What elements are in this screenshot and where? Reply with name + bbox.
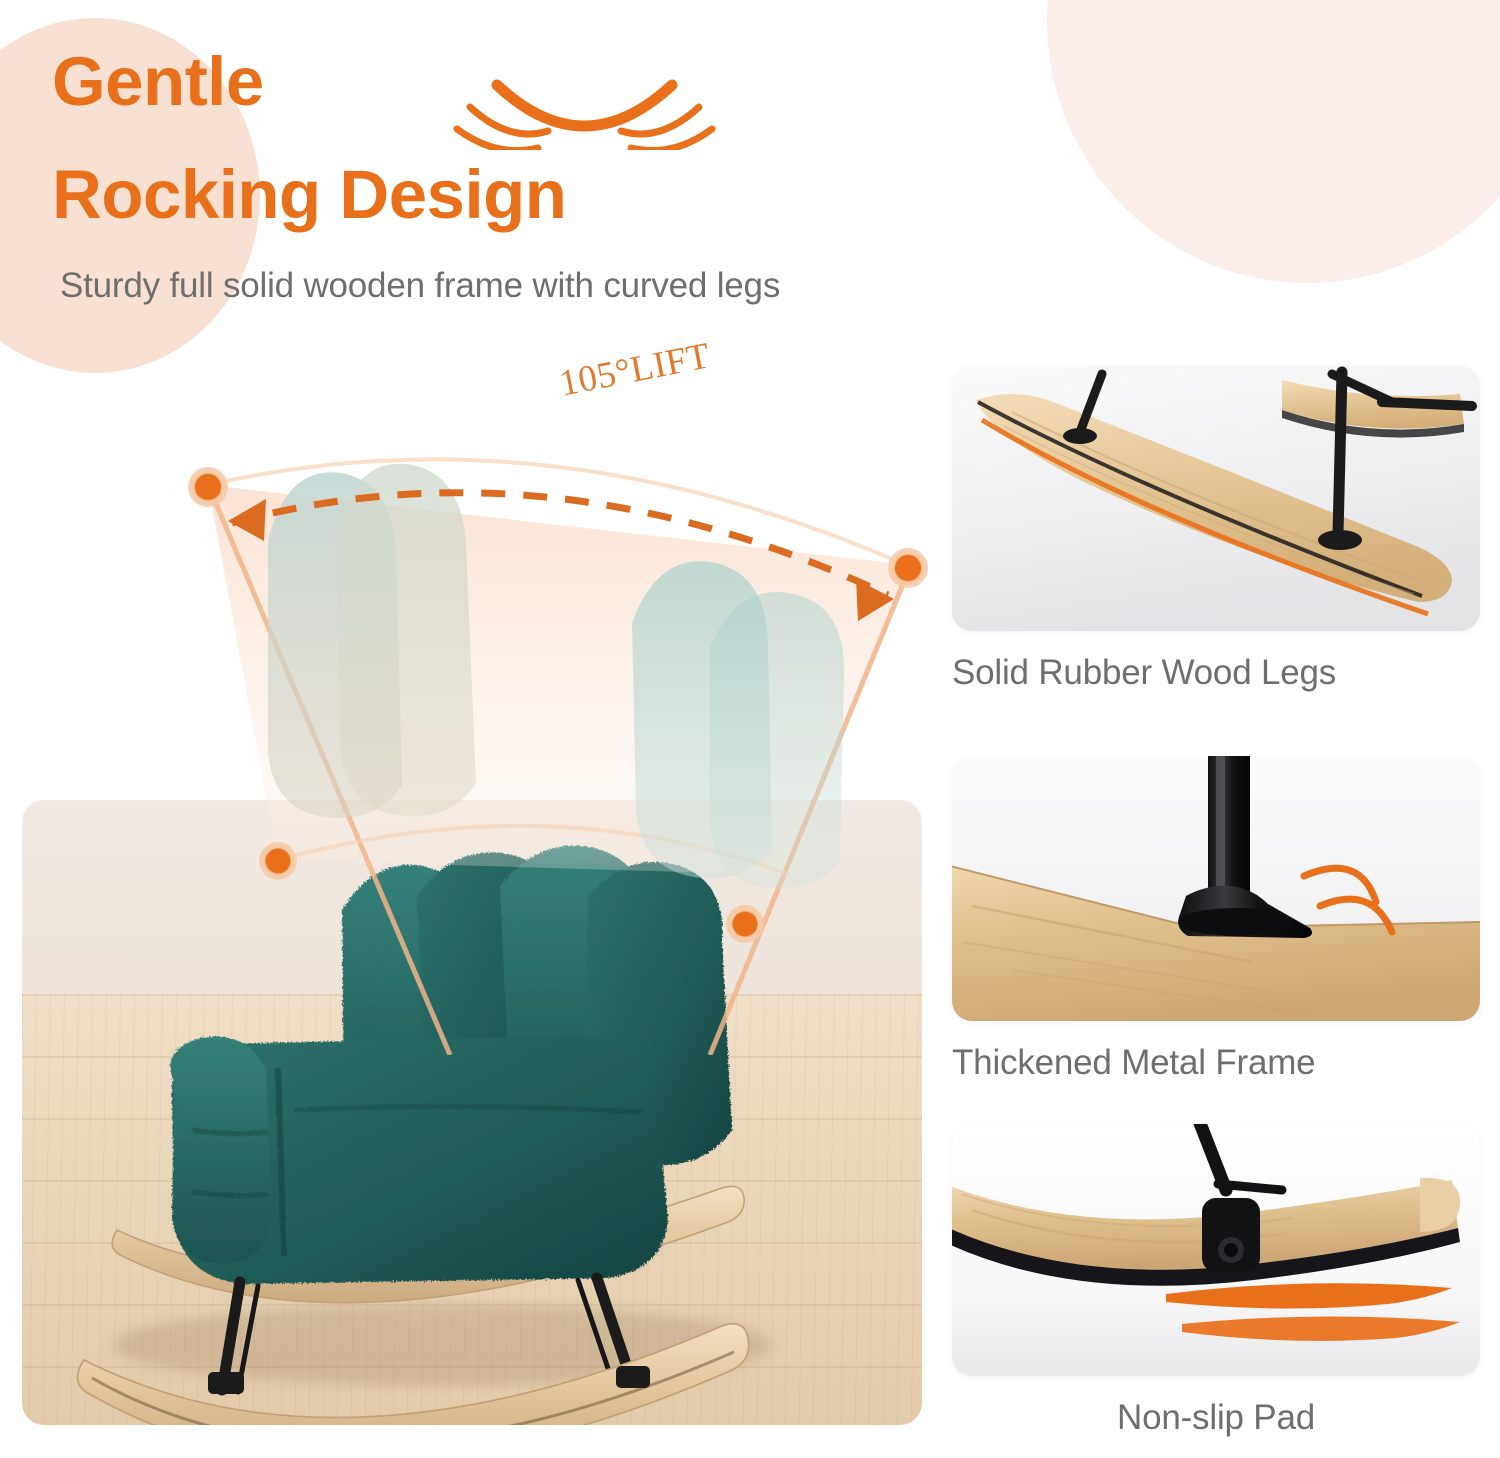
feature-panel-solid-rubber-wood-legs: Solid Rubber Wood Legs (952, 366, 1480, 693)
feature-image-non-slip-pad (952, 1124, 1480, 1376)
page-subtitle: Sturdy full solid wooden frame with curv… (60, 266, 780, 306)
feature-caption: Non-slip Pad (952, 1398, 1480, 1438)
page-title-line-1: Gentle (52, 47, 264, 116)
feature-image-wood-legs (952, 366, 1480, 631)
decorative-pink-circle (1047, 0, 1500, 283)
rocking-motion-diagram (150, 355, 980, 1055)
rocking-motion-icon (452, 55, 717, 150)
feature-panel-thickened-metal-frame: Thickened Metal Frame (952, 756, 1480, 1083)
infographic-canvas: Gentle Rocking Design Sturdy full solid … (0, 0, 1500, 1458)
feature-caption: Thickened Metal Frame (952, 1043, 1480, 1083)
page-title-line-2: Rocking Design (52, 160, 566, 229)
feature-caption: Solid Rubber Wood Legs (952, 653, 1480, 693)
feature-image-metal-frame (952, 756, 1480, 1021)
feature-panel-non-slip-pad: Non-slip Pad (952, 1124, 1480, 1438)
